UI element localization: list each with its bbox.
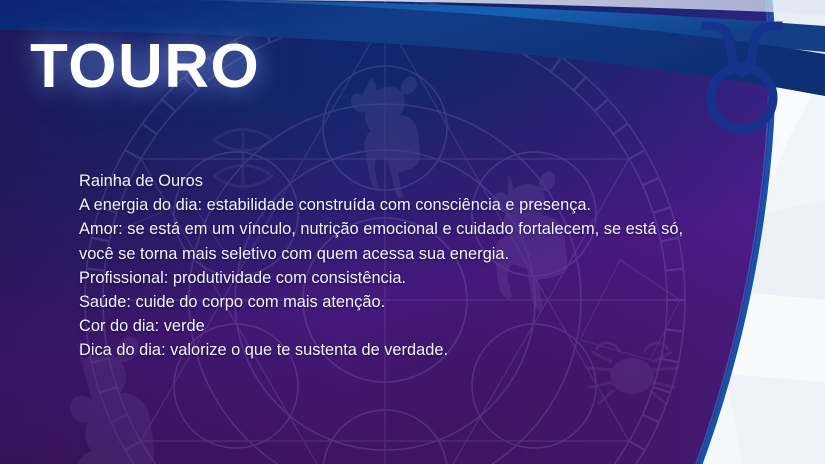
taurus-glyph bbox=[706, 26, 778, 129]
horoscope-line-7: Dica do dia: valorize o que te sustenta … bbox=[79, 338, 719, 362]
horoscope-line-3: Amor: se está em um vínculo, nutrição em… bbox=[79, 217, 719, 265]
horoscope-line-6: Cor do dia: verde bbox=[79, 314, 719, 338]
horoscope-text: Rainha de Ouros A energia do dia: estabi… bbox=[79, 169, 719, 363]
horoscope-line-2: A energia do dia: estabilidade construíd… bbox=[79, 193, 719, 217]
horoscope-line-4: Profissional: produtividade com consistê… bbox=[79, 266, 719, 290]
page-title: TOURO bbox=[30, 36, 260, 98]
horoscope-line-5: Saúde: cuide do corpo com mais atenção. bbox=[79, 290, 719, 314]
horoscope-line-1: Rainha de Ouros bbox=[79, 169, 719, 193]
horoscope-card: TOURO Rainha de Ouros A energia do dia: … bbox=[0, 0, 825, 464]
